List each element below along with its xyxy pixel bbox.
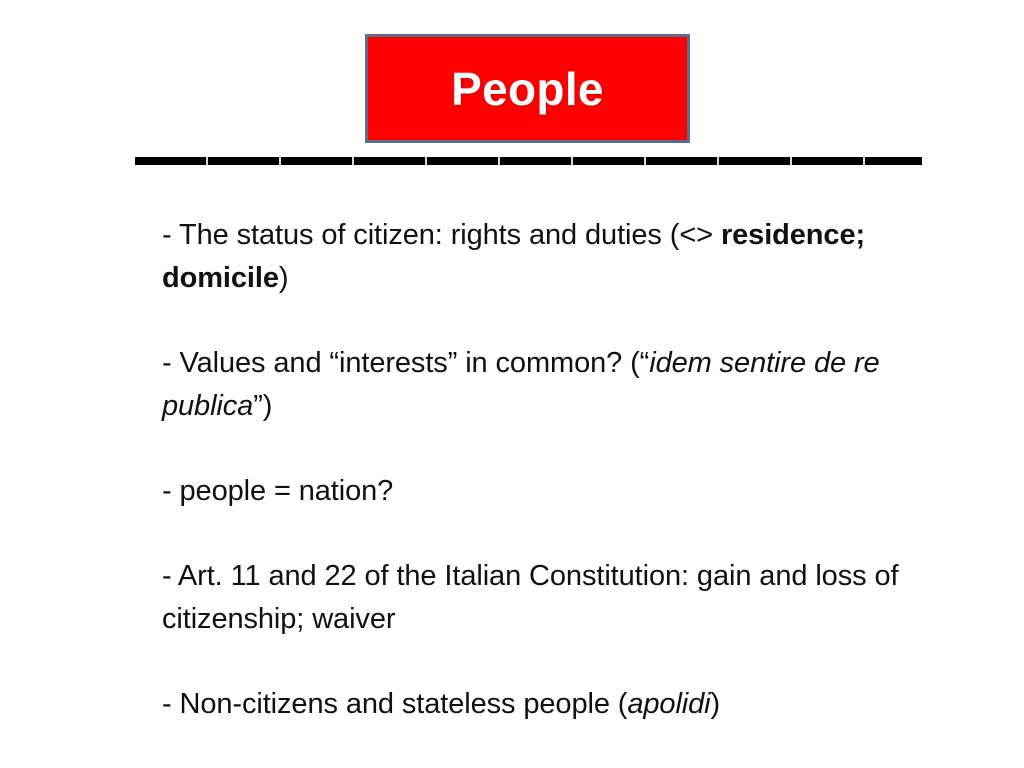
bullet-non-citizens-stateless: - Non-citizens and stateless people (apo… xyxy=(162,683,922,726)
slide-body: - The status of citizen: rights and duti… xyxy=(162,214,922,726)
text-run-regular: - Non-citizens and stateless people ( xyxy=(162,688,627,720)
text-run-regular: - The status of citizen: rights and duti… xyxy=(162,219,721,251)
bullet-art-11-and-22: - Art. 11 and 22 of the Italian Constitu… xyxy=(162,555,922,641)
text-run-regular: - Art. 11 and 22 of the Italian Constitu… xyxy=(162,560,898,635)
title-divider-rule xyxy=(135,157,922,165)
presentation-slide: People - The status of citizen: rights a… xyxy=(0,0,1024,768)
text-run-italic: apolidi xyxy=(627,688,710,720)
text-run-regular: ”) xyxy=(253,390,272,422)
text-run-regular: - Values and “interests” in common? (“ xyxy=(162,347,649,379)
bullet-people-equals-nation: - people = nation? xyxy=(162,470,922,513)
text-run-regular: - people = nation? xyxy=(162,475,393,507)
text-run-regular: ) xyxy=(279,262,289,294)
bullet-status-of-citizen: - The status of citizen: rights and duti… xyxy=(162,214,922,300)
bullet-values-and-interests: - Values and “interests” in common? (“id… xyxy=(162,342,922,428)
divider-tick-pattern xyxy=(135,157,922,165)
slide-title-box: People xyxy=(365,34,690,143)
text-run-regular: ) xyxy=(711,688,721,720)
slide-title: People xyxy=(451,66,604,112)
